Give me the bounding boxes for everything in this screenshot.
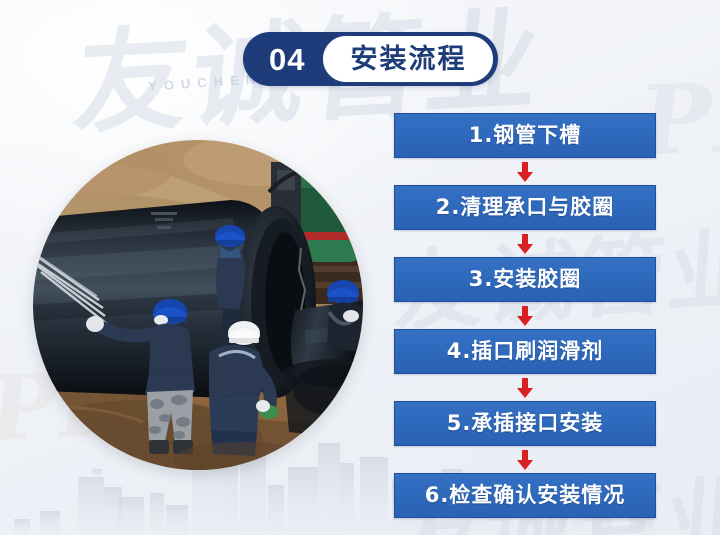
slide-canvas: 友诚管业 YOUCHENG PIPE 友诚管业 PIPE 友诚管业 PIPE P… xyxy=(0,0,720,535)
flow-step-3[interactable]: 3.安装胶圈 xyxy=(394,257,656,302)
installation-flow-chart: 1.钢管下槽 2.清理承口与胶圈 3.安装胶圈 4.插口刷润滑剂 xyxy=(394,113,656,518)
flow-arrow-4 xyxy=(516,374,534,401)
flow-step-5[interactable]: 5.承插接口安装 xyxy=(394,401,656,446)
page-title: 安装流程 xyxy=(350,46,466,73)
arrow-down-icon xyxy=(516,378,534,398)
flow-arrow-3 xyxy=(516,302,534,329)
flow-step-3-label: 3.安装胶圈 xyxy=(469,269,582,290)
flow-step-1-label: 1.钢管下槽 xyxy=(469,125,582,146)
flow-step-1[interactable]: 1.钢管下槽 xyxy=(394,113,656,158)
construction-photo xyxy=(33,140,363,470)
flow-step-2[interactable]: 2.清理承口与胶圈 xyxy=(394,185,656,230)
flow-step-4[interactable]: 4.插口刷润滑剂 xyxy=(394,329,656,374)
arrow-down-icon xyxy=(516,162,534,182)
arrow-down-icon xyxy=(516,306,534,326)
section-header-badge: 04 安装流程 xyxy=(243,32,498,86)
flow-arrow-2 xyxy=(516,230,534,257)
flow-step-6-label: 6.检查确认安装情况 xyxy=(425,485,626,506)
section-number: 04 xyxy=(243,44,322,75)
flow-arrow-1 xyxy=(516,158,534,185)
flow-step-4-label: 4.插口刷润滑剂 xyxy=(447,341,604,362)
arrow-down-icon xyxy=(516,234,534,254)
construction-photo-illustration xyxy=(33,140,363,470)
flow-arrow-5 xyxy=(516,446,534,473)
flow-step-2-label: 2.清理承口与胶圈 xyxy=(436,197,615,218)
section-title-pill: 安装流程 xyxy=(322,35,494,83)
worker-blue-hat-right xyxy=(327,280,363,352)
flow-step-6[interactable]: 6.检查确认安装情况 xyxy=(394,473,656,518)
flow-step-5-label: 5.承插接口安装 xyxy=(447,413,604,434)
arrow-down-icon xyxy=(516,450,534,470)
